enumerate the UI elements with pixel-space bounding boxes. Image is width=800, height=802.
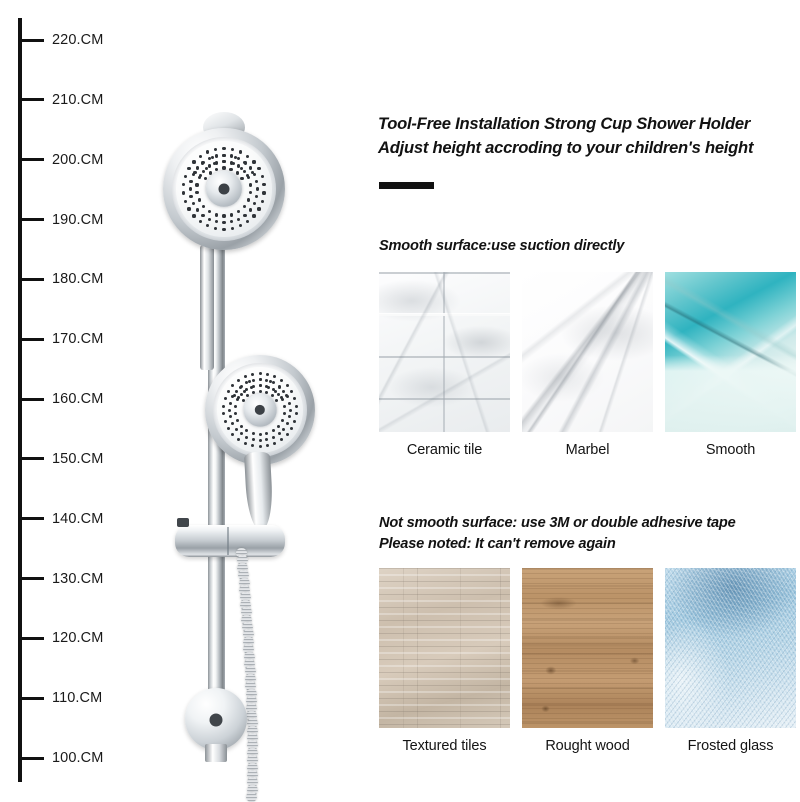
tick-label: 160.CM	[52, 391, 103, 407]
swatch-cell: Ceramic tile	[379, 272, 510, 458]
ruler-tick-210: 210.CM	[18, 93, 103, 107]
ruler-tick-190: 190.CM	[18, 213, 103, 227]
bracket-lock-knob	[177, 518, 189, 527]
headline-line-2: Adjust height accroding to your children…	[378, 136, 798, 160]
suction-cup-base	[185, 688, 247, 750]
ruler-tick-140: 140.CM	[18, 512, 103, 526]
tick-label: 150.CM	[52, 451, 103, 467]
hose-segment	[246, 792, 257, 802]
swatch-cell: Marbel	[522, 272, 653, 458]
headline-line-1: Tool-Free Installation Strong Cup Shower…	[378, 112, 798, 136]
ruler-tick-170: 170.CM	[18, 332, 103, 346]
tick-mark-icon	[22, 338, 44, 341]
info-panel: Tool-Free Installation Strong Cup Shower…	[375, 0, 800, 800]
swatch-caption: Frosted glass	[665, 738, 796, 754]
tick-label: 200.CM	[52, 152, 103, 168]
tick-mark-icon	[22, 398, 44, 401]
lower-head-handle	[244, 451, 274, 530]
tick-label: 130.CM	[52, 571, 103, 587]
tick-mark-icon	[22, 278, 44, 281]
upper-head-handle	[200, 245, 214, 370]
tick-label: 190.CM	[52, 212, 103, 228]
upper-shower-head	[163, 128, 285, 250]
tick-mark-icon	[22, 697, 44, 700]
ruler-tick-160: 160.CM	[18, 392, 103, 406]
tick-label: 180.CM	[52, 271, 103, 287]
frosted-glass-swatch	[665, 568, 796, 728]
tick-label: 110.CM	[52, 690, 102, 706]
lower-shower-head	[205, 355, 315, 465]
swatch-row-rough: Textured tilesRought woodFrosted glass	[379, 568, 797, 754]
swatch-caption: Marbel	[522, 442, 653, 458]
upper-head-face	[176, 141, 271, 236]
rough-wood-swatch	[522, 568, 653, 728]
ruler-tick-100: 100.CM	[18, 751, 103, 765]
swatch-row-smooth: Ceramic tileMarbelSmooth	[379, 272, 797, 458]
tick-label: 100.CM	[52, 750, 103, 766]
ceramic-tile-swatch	[379, 272, 510, 432]
swatch-caption: Rought wood	[522, 738, 653, 754]
swatch-caption: Smooth	[665, 442, 796, 458]
tick-mark-icon	[22, 637, 44, 640]
shower-hose	[235, 548, 261, 798]
tick-mark-icon	[22, 457, 44, 460]
tick-mark-icon	[22, 218, 44, 221]
sliding-bracket	[175, 525, 285, 557]
tick-label: 140.CM	[52, 511, 103, 527]
ruler-tick-150: 150.CM	[18, 452, 103, 466]
rough-title-line-2: Please noted: It can't remove again	[379, 534, 736, 555]
page-title: Tool-Free Installation Strong Cup Shower…	[378, 112, 798, 160]
section-title-smooth: Smooth surface:use suction directly	[379, 236, 624, 257]
swatch-caption: Ceramic tile	[379, 442, 510, 458]
textured-tile-swatch	[379, 568, 510, 728]
tick-label: 210.CM	[52, 92, 103, 108]
smooth-glass-swatch	[665, 272, 796, 432]
lower-head-face	[217, 367, 303, 453]
tick-label: 170.CM	[52, 331, 103, 347]
rough-title-line-1: Not smooth surface: use 3M or double adh…	[379, 513, 736, 534]
product-illustration	[145, 0, 380, 800]
tick-label: 120.CM	[52, 630, 103, 646]
swatch-cell: Rought wood	[522, 568, 653, 754]
hose-connector-nut	[205, 744, 227, 762]
lower-head-hub	[244, 394, 277, 427]
ruler-tick-130: 130.CM	[18, 572, 103, 586]
ruler-tick-110: 110.CM	[18, 691, 102, 705]
swatch-cell: Frosted glass	[665, 568, 796, 754]
ruler-tick-120: 120.CM	[18, 631, 103, 645]
tick-mark-icon	[22, 98, 44, 101]
upper-head-hub	[206, 171, 242, 207]
section-title-rough: Not smooth surface: use 3M or double adh…	[379, 513, 736, 554]
swatch-cell: Textured tiles	[379, 568, 510, 754]
title-underline-bar	[379, 182, 434, 189]
ruler-tick-180: 180.CM	[18, 272, 103, 286]
swatch-cell: Smooth	[665, 272, 796, 458]
ruler-tick-220: 220.CM	[18, 33, 103, 47]
tick-mark-icon	[22, 39, 44, 42]
tick-label: 220.CM	[52, 32, 103, 48]
tick-mark-icon	[22, 757, 44, 760]
height-ruler: 220.CM210.CM200.CM190.CM180.CM170.CM160.…	[0, 0, 150, 800]
bracket-seam	[227, 527, 229, 555]
tick-mark-icon	[22, 577, 44, 580]
tick-mark-icon	[22, 517, 44, 520]
swatch-caption: Textured tiles	[379, 738, 510, 754]
marble-swatch	[522, 272, 653, 432]
tick-mark-icon	[22, 158, 44, 161]
ruler-tick-200: 200.CM	[18, 153, 103, 167]
